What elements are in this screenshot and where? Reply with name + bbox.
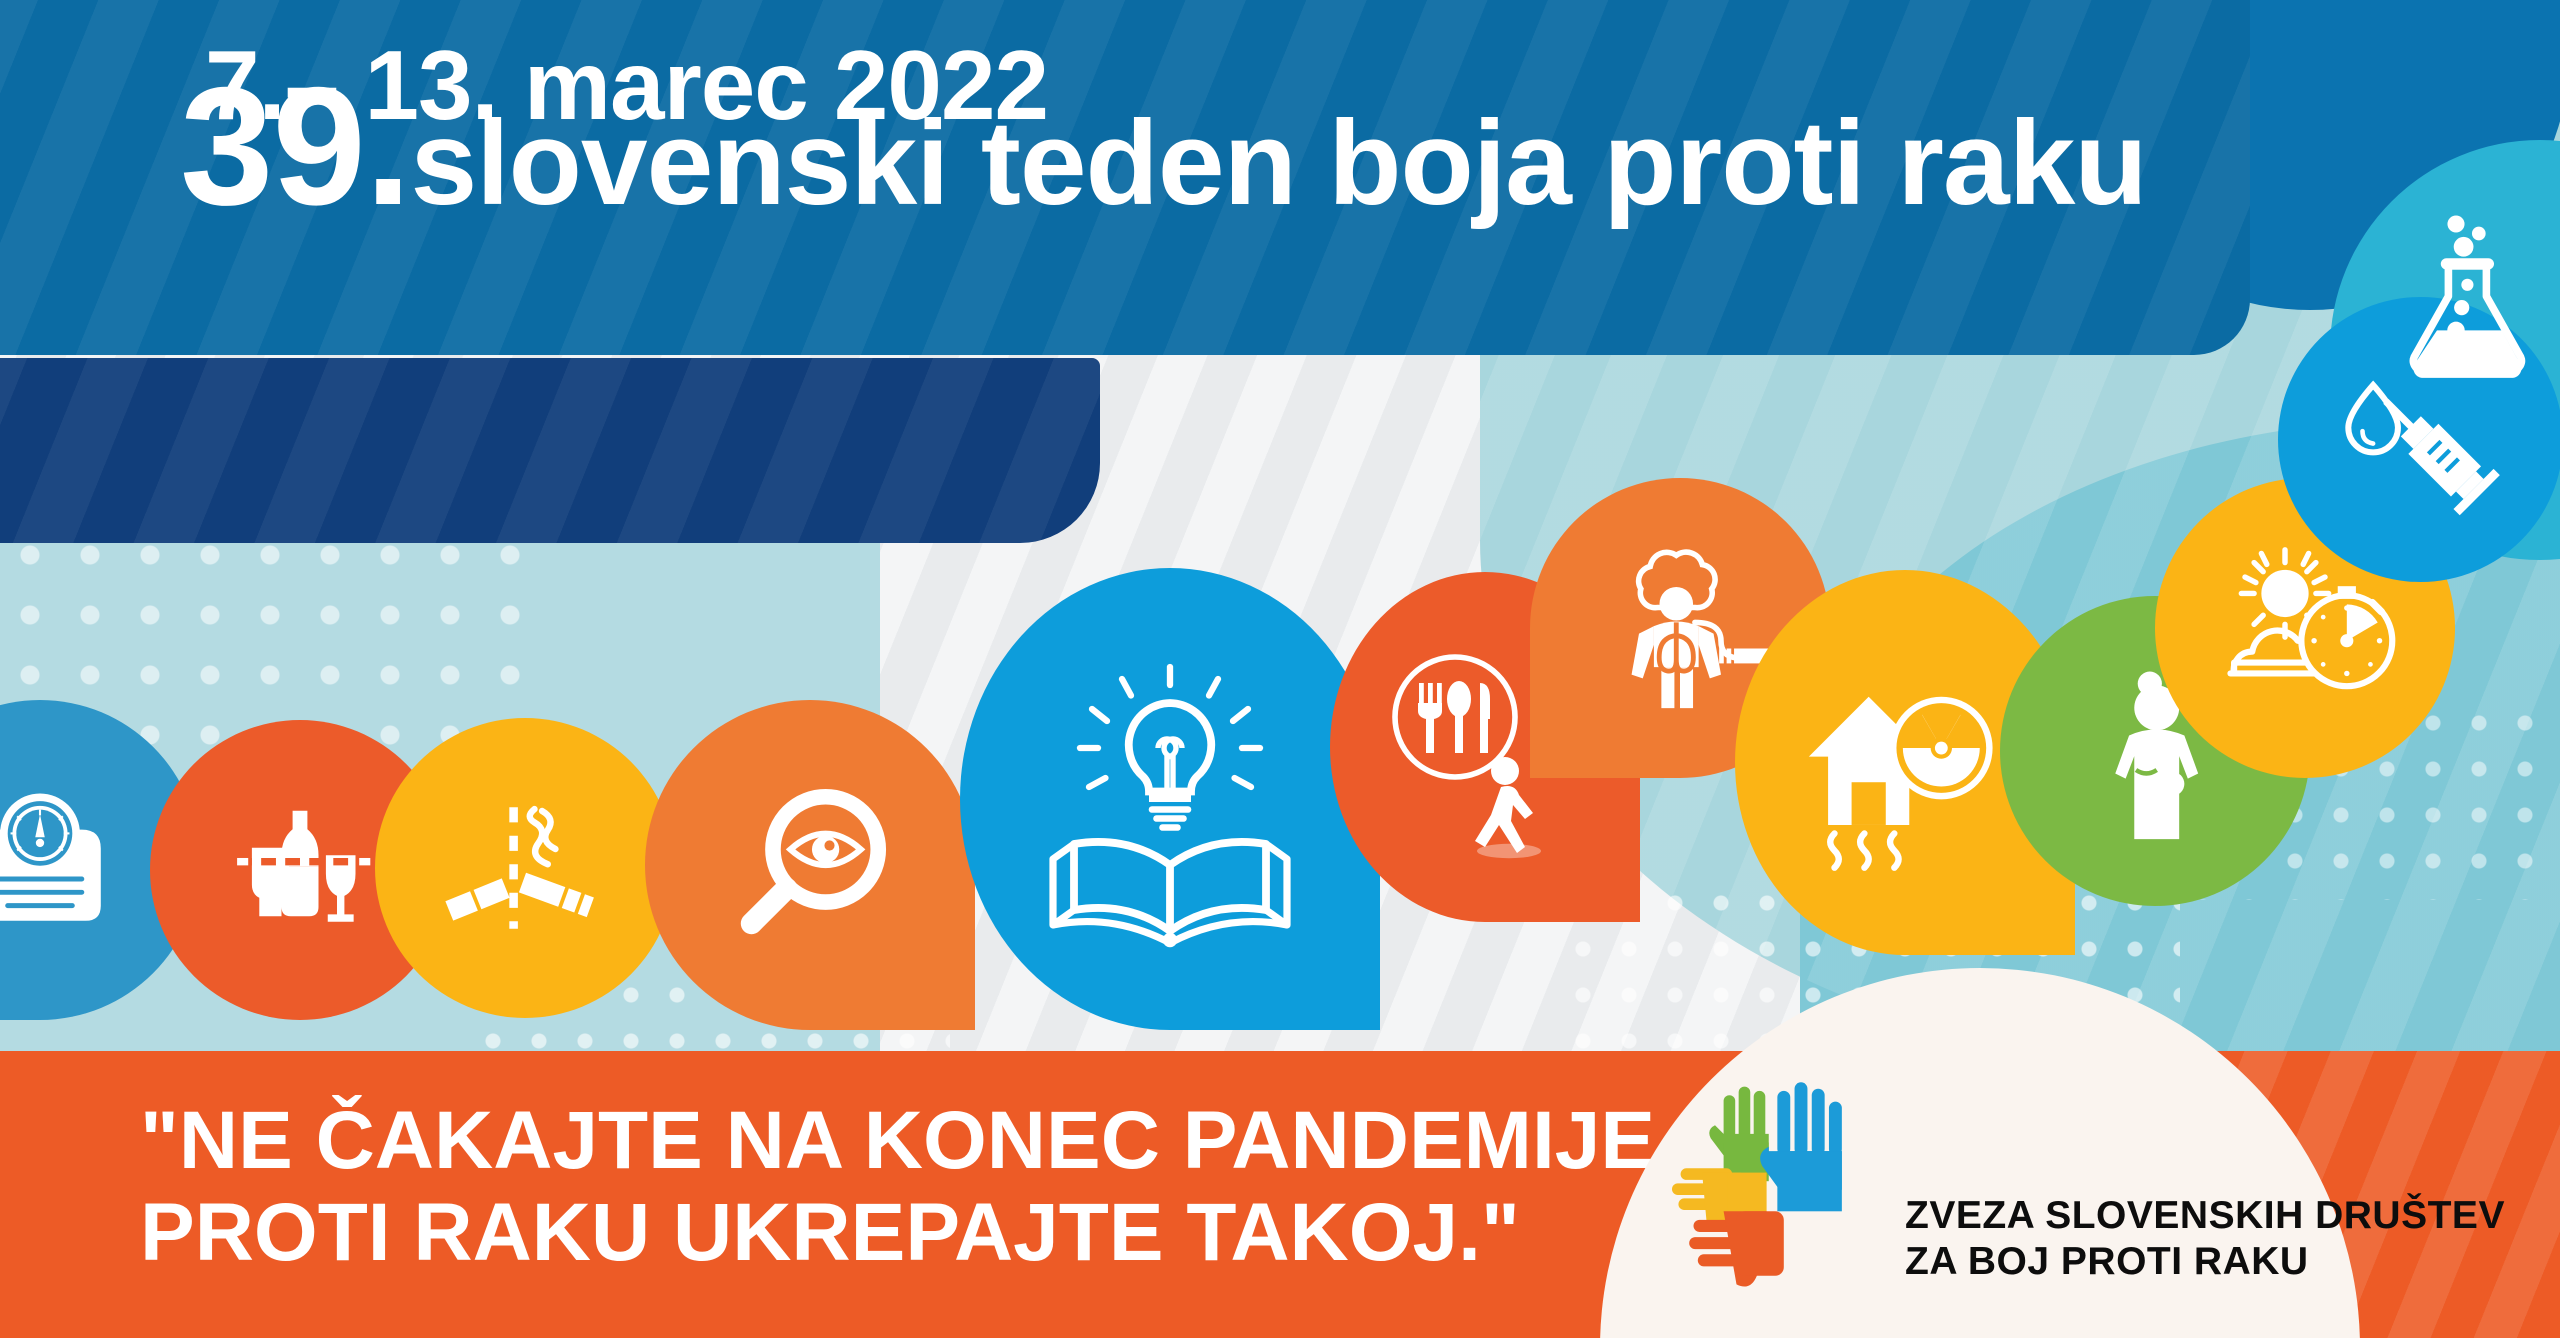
date-banner bbox=[0, 358, 1100, 543]
date-banner-stripes bbox=[0, 358, 1100, 543]
organization-name: ZVEZA SLOVENSKIH DRUŠTEV ZA BOJ PROTI RA… bbox=[1905, 1193, 2505, 1285]
magnifier-eye-icon bbox=[645, 700, 975, 1030]
lightbulb-book-icon bbox=[960, 568, 1380, 1030]
poster-canvas: 39.slovenski teden boja proti raku 7.– 1… bbox=[0, 0, 2560, 1338]
four-hands-logo-icon bbox=[1672, 1078, 1887, 1293]
event-date: 7.– 13. marec 2022 bbox=[205, 36, 1048, 134]
no-smoking-icon bbox=[375, 718, 675, 1018]
lab-flask-icon bbox=[2345, 170, 2560, 430]
slogan-text: "NE ČAKAJTE NA KONEC PANDEMIJE, PROTI RA… bbox=[140, 1095, 1678, 1279]
